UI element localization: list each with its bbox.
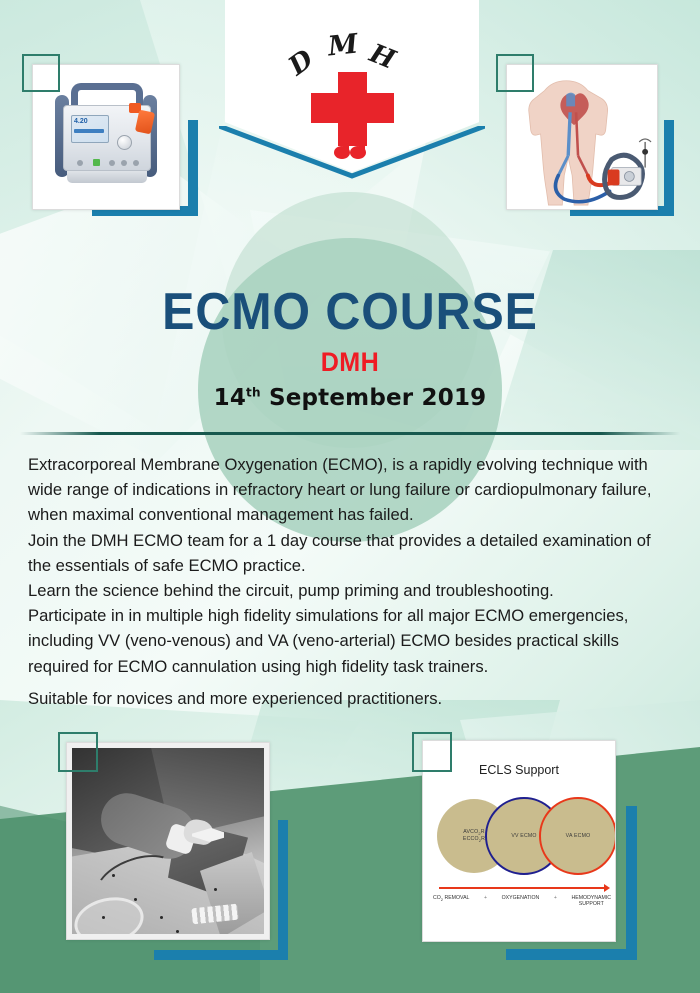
photo-speckle xyxy=(214,888,217,891)
chart-circle-va-ecmo: VA ECMO xyxy=(539,797,616,875)
axis-label-co2-removal: CO2 REMOVAL xyxy=(433,895,469,902)
music-note-icon xyxy=(334,146,350,159)
logo-letter-d: D xyxy=(283,44,319,82)
page-subtitle: DMH xyxy=(25,347,676,378)
photo-speckle xyxy=(160,916,163,919)
blue-accent-bar xyxy=(278,820,288,960)
photo-speckle xyxy=(112,874,115,877)
image-frame-ecls: ECLS Support AVCO2R ECCO2R VV ECMO VA EC… xyxy=(410,728,650,958)
surgery-photo-content xyxy=(72,748,264,934)
axis-separator: + xyxy=(484,895,487,901)
photo-speckle xyxy=(102,916,105,919)
circle-label: VV ECMO xyxy=(511,833,536,839)
image-frame-surgery xyxy=(56,728,296,958)
teal-accent-square xyxy=(412,732,452,772)
console-port xyxy=(121,160,127,166)
event-date-ordinal: th xyxy=(246,385,261,399)
event-date-day: 14 xyxy=(214,385,246,411)
teal-accent-square xyxy=(58,732,98,772)
music-note-icon xyxy=(350,146,366,159)
console-screen-bar xyxy=(74,129,104,133)
ecmo-course-poster: D M H 4.20 xyxy=(0,0,700,993)
description-paragraph: Participate in in multiple high fidelity… xyxy=(28,603,678,679)
page-title: ECMO COURSE xyxy=(25,286,676,339)
blue-accent-bar xyxy=(188,120,198,216)
chart-axis-arrow xyxy=(439,887,605,889)
photo-speckle xyxy=(134,898,137,901)
image-frame-anatomy xyxy=(492,52,684,222)
teal-accent-square xyxy=(22,54,60,92)
console-screen-value: 4.20 xyxy=(74,118,88,125)
circle-label: VA ECMO xyxy=(566,833,591,839)
photo-speckle xyxy=(176,930,179,933)
console-port xyxy=(133,160,139,166)
axis-label-oxygenation: OXYGENATION xyxy=(502,895,540,901)
circle-label-line1: AVCO2R xyxy=(463,829,485,836)
dmh-logo: D M H xyxy=(286,26,418,166)
console-port xyxy=(77,160,83,166)
blue-accent-bar xyxy=(506,949,637,960)
poster-title-block: ECMO COURSE DMH 14th September 2019 xyxy=(0,286,700,411)
blue-accent-bar xyxy=(154,950,288,960)
logo-letter-h: H xyxy=(365,38,399,75)
teal-accent-square xyxy=(496,54,534,92)
description-paragraph: Learn the science behind the circuit, pu… xyxy=(28,578,678,603)
description-paragraph: Extracorporeal Membrane Oxygenation (ECM… xyxy=(28,452,678,528)
description-paragraph: Join the DMH ECMO team for a 1 day cours… xyxy=(28,528,678,578)
blue-accent-bar xyxy=(664,120,674,216)
console-port xyxy=(109,160,115,166)
course-description: Extracorporeal Membrane Oxygenation (ECM… xyxy=(28,452,678,711)
description-paragraph: Suitable for novices and more experience… xyxy=(28,686,678,711)
event-date-rest: September 2019 xyxy=(261,385,487,411)
image-frame-console: 4.20 xyxy=(18,52,208,222)
console-knob xyxy=(117,135,132,150)
event-date: 14th September 2019 xyxy=(0,385,700,411)
logo-letter-m: M xyxy=(326,29,359,63)
section-divider xyxy=(20,432,680,435)
console-status-led xyxy=(93,159,100,166)
circle-label-line2: ECCO2R xyxy=(463,836,485,843)
chart-axis-labels: CO2 REMOVAL + OXYGENATION + HEMODYNAMICS… xyxy=(433,895,611,907)
console-base xyxy=(67,171,147,183)
red-cross-icon xyxy=(311,93,394,123)
axis-label-hemodynamic-support: HEMODYNAMICSUPPORT xyxy=(572,895,611,907)
blue-accent-bar xyxy=(626,806,637,960)
axis-separator: + xyxy=(554,895,557,901)
